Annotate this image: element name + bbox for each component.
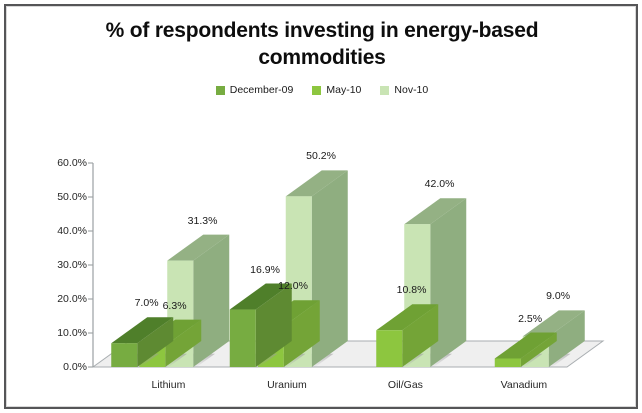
x-axis-category-labels: LithiumUraniumOil/GasVanadium <box>1 379 642 399</box>
legend-swatch-icon-nov-10 <box>380 86 389 95</box>
x-category-oil-gas: Oil/Gas <box>388 379 423 391</box>
chart-image-frame: % of respondents investing in energy-bas… <box>0 0 642 413</box>
legend-label-december-09: December-09 <box>230 84 294 96</box>
legend-label-may-10: May-10 <box>326 84 361 96</box>
data-label-vanadium-nov-10: 9.0% <box>546 290 570 302</box>
y-tick-40: 40.0% <box>33 225 87 237</box>
data-label-lithium-december-09: 7.0% <box>135 297 159 309</box>
data-label-oil-gas-nov-10: 42.0% <box>425 178 455 190</box>
y-tick-10: 10.0% <box>33 327 87 339</box>
x-category-lithium: Lithium <box>152 379 186 391</box>
x-category-vanadium: Vanadium <box>501 379 548 391</box>
y-tick-60: 60.0% <box>33 157 87 169</box>
chart-legend: December-09 May-10 Nov-10 <box>1 84 642 96</box>
y-axis-tick-labels: 60.0%50.0%40.0%30.0%20.0%10.0%0.0% <box>33 1 87 413</box>
legend-item-december-09: December-09 <box>216 84 294 96</box>
y-tick-50: 50.0% <box>33 191 87 203</box>
data-label-lithium-nov-10: 31.3% <box>188 215 218 227</box>
data-label-layer: 9.0%2.5%42.0%10.8%50.2%12.0%16.9%31.3%6.… <box>1 1 642 413</box>
y-tick-30: 30.0% <box>33 259 87 271</box>
data-label-uranium-may-10: 12.0% <box>278 280 308 292</box>
data-label-lithium-may-10: 6.3% <box>163 300 187 312</box>
data-label-uranium-december-09: 16.9% <box>250 264 280 276</box>
x-category-uranium: Uranium <box>267 379 307 391</box>
data-label-uranium-nov-10: 50.2% <box>306 150 336 162</box>
legend-swatch-icon-december-09 <box>216 86 225 95</box>
legend-item-may-10: May-10 <box>312 84 361 96</box>
y-tick-20: 20.0% <box>33 293 87 305</box>
chart-plot-area: 9.0%2.5%42.0%10.8%50.2%12.0%16.9%31.3%6.… <box>1 1 642 413</box>
data-label-vanadium-may-10: 2.5% <box>518 313 542 325</box>
legend-swatch-icon-may-10 <box>312 86 321 95</box>
y-tick-0: 0.0% <box>33 361 87 373</box>
data-label-oil-gas-may-10: 10.8% <box>397 284 427 296</box>
legend-label-nov-10: Nov-10 <box>394 84 428 96</box>
legend-item-nov-10: Nov-10 <box>380 84 428 96</box>
